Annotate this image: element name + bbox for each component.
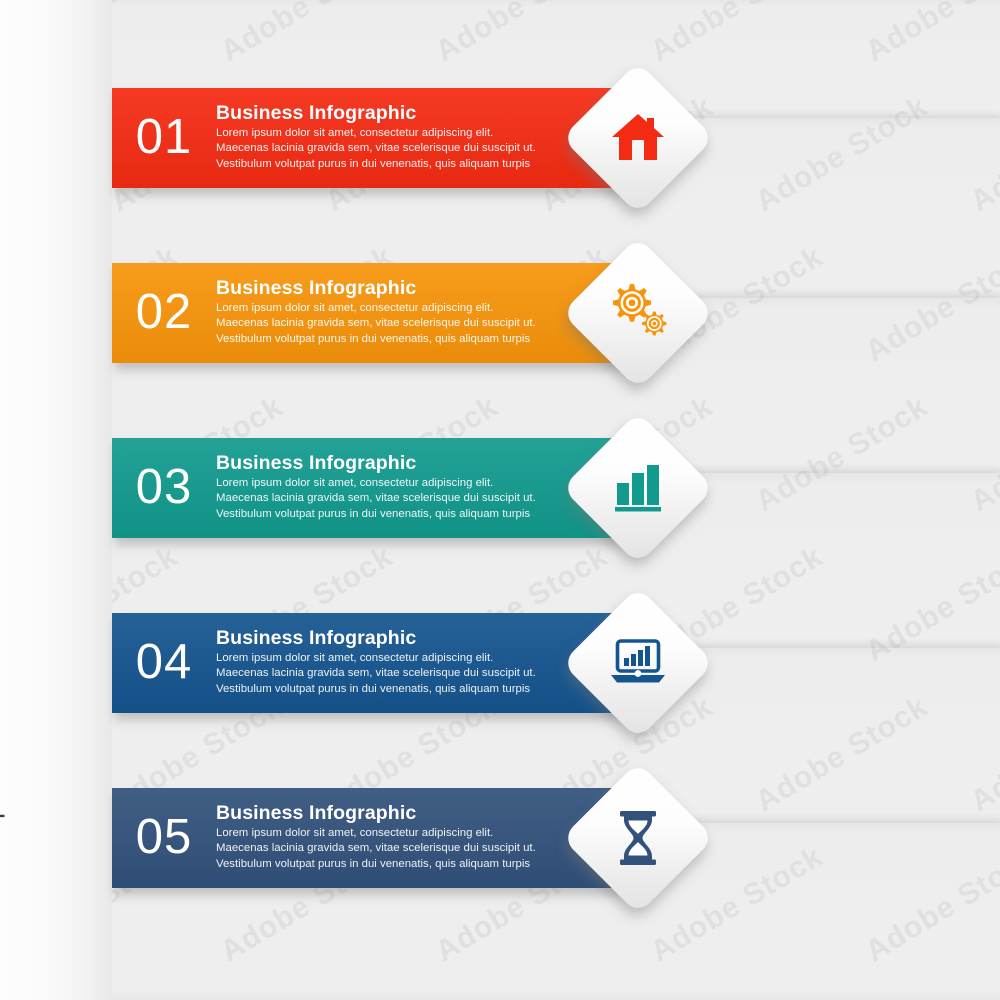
row-description-line: Lorem ipsum dolor sit amet, consectetur …: [216, 651, 618, 667]
infographic-row[interactable]: 02 Business Infographic Lorem ipsum dolo…: [0, 235, 1000, 395]
row-title: Business Infographic: [216, 803, 618, 823]
row-title: Business Infographic: [216, 278, 618, 298]
row-description: Lorem ipsum dolor sit amet, consectetur …: [216, 126, 618, 173]
row-description: Lorem ipsum dolor sit amet, consectetur …: [216, 476, 618, 523]
row-number: 03: [112, 463, 216, 514]
infographic-row[interactable]: 04 Business Infographic Lorem ipsum dolo…: [0, 585, 1000, 745]
row-description-line: Vestibulum volutpat purus in dui venenat…: [216, 507, 618, 523]
row-text-block: Business Infographic Lorem ipsum dolor s…: [216, 103, 632, 173]
row-description-line: Maecenas lacinia gravida sem, vitae scel…: [216, 141, 618, 157]
infographic-row[interactable]: 01 Business Infographic Lorem ipsum dolo…: [0, 60, 1000, 220]
row-bar[interactable]: 05 Business Infographic Lorem ipsum dolo…: [112, 788, 632, 888]
row-description-line: Vestibulum volutpat purus in dui venenat…: [216, 157, 618, 173]
row-bar[interactable]: 04 Business Infographic Lorem ipsum dolo…: [112, 613, 632, 713]
row-description: Lorem ipsum dolor sit amet, consectetur …: [216, 651, 618, 698]
infographic-canvas: Adobe StockAdobe StockAdobe StockAdobe S…: [0, 0, 1000, 1000]
row-description-line: Vestibulum volutpat purus in dui venenat…: [216, 682, 618, 698]
row-text-block: Business Infographic Lorem ipsum dolor s…: [216, 628, 632, 698]
row-description-line: Maecenas lacinia gravida sem, vitae scel…: [216, 841, 618, 857]
row-description-line: Vestibulum volutpat purus in dui venenat…: [216, 332, 618, 348]
row-bar[interactable]: 01 Business Infographic Lorem ipsum dolo…: [112, 88, 632, 188]
row-description-line: Maecenas lacinia gravida sem, vitae scel…: [216, 666, 618, 682]
row-text-block: Business Infographic Lorem ipsum dolor s…: [216, 278, 632, 348]
row-number: 05: [112, 813, 216, 864]
row-title: Business Infographic: [216, 453, 618, 473]
row-description-line: Lorem ipsum dolor sit amet, consectetur …: [216, 476, 618, 492]
row-number: 01: [112, 113, 216, 164]
row-description-line: Lorem ipsum dolor sit amet, consectetur …: [216, 826, 618, 842]
row-title: Business Infographic: [216, 628, 618, 648]
row-bar[interactable]: 02 Business Infographic Lorem ipsum dolo…: [112, 263, 632, 363]
row-description-line: Vestibulum volutpat purus in dui venenat…: [216, 857, 618, 873]
row-text-block: Business Infographic Lorem ipsum dolor s…: [216, 803, 632, 873]
row-description-line: Lorem ipsum dolor sit amet, consectetur …: [216, 301, 618, 317]
row-number: 04: [112, 638, 216, 689]
row-bar[interactable]: 03 Business Infographic Lorem ipsum dolo…: [112, 438, 632, 538]
row-description-line: Lorem ipsum dolor sit amet, consectetur …: [216, 126, 618, 142]
infographic-row[interactable]: 03 Business Infographic Lorem ipsum dolo…: [0, 410, 1000, 570]
row-description-line: Maecenas lacinia gravida sem, vitae scel…: [216, 316, 618, 332]
row-title: Business Infographic: [216, 103, 618, 123]
row-description: Lorem ipsum dolor sit amet, consectetur …: [216, 301, 618, 348]
row-text-block: Business Infographic Lorem ipsum dolor s…: [216, 453, 632, 523]
infographic-row[interactable]: 05 Business Infographic Lorem ipsum dolo…: [0, 760, 1000, 920]
row-description-line: Maecenas lacinia gravida sem, vitae scel…: [216, 491, 618, 507]
row-description: Lorem ipsum dolor sit amet, consectetur …: [216, 826, 618, 873]
row-number: 02: [112, 288, 216, 339]
